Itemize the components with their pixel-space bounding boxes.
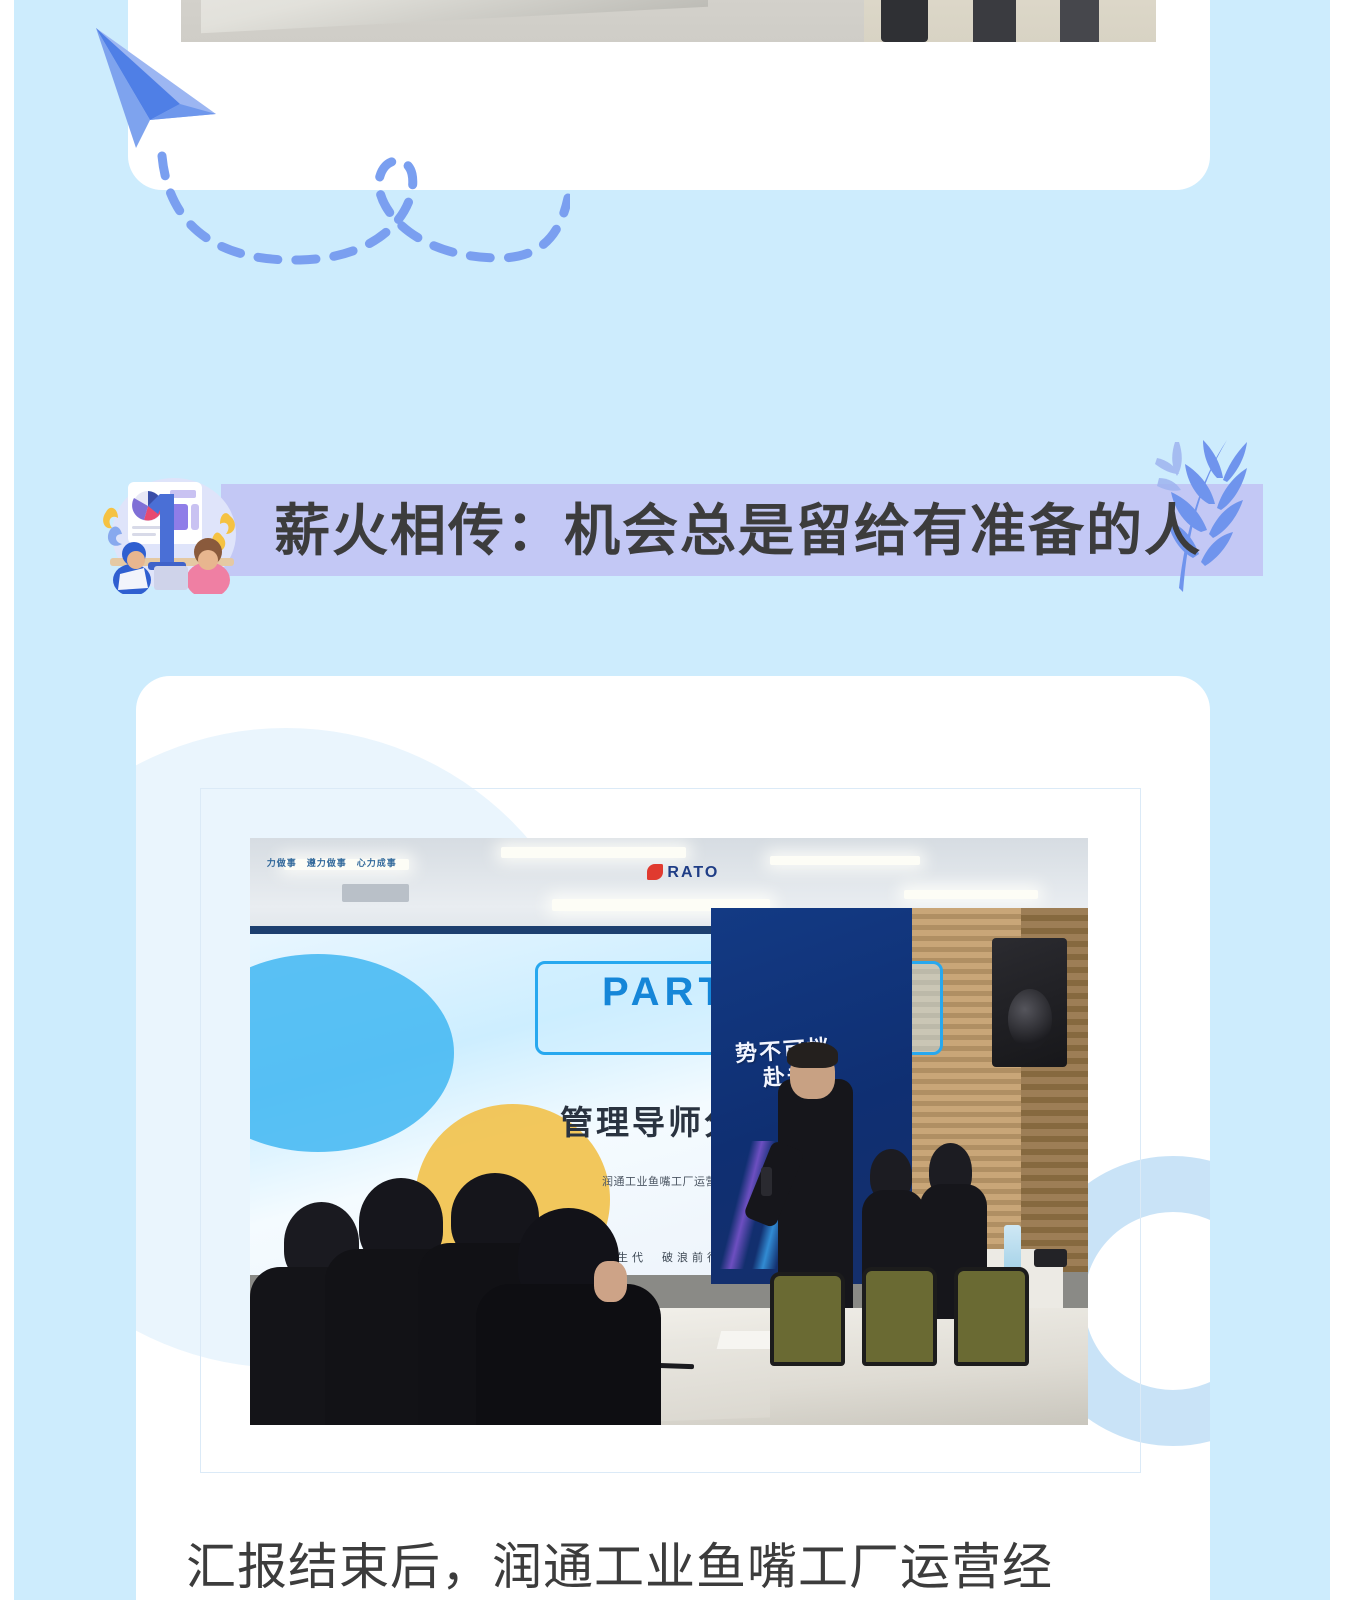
paper-plane-icon: [88, 8, 228, 158]
ceiling-light: [770, 856, 921, 865]
rato-brand-text: RATO: [667, 864, 719, 881]
photo-microphone: [761, 1167, 772, 1196]
page-right-margin: [1330, 0, 1363, 1600]
rato-brand-logo: RATO: [647, 864, 719, 882]
photo-chair: [954, 1267, 1029, 1367]
dashed-curve-icon: [150, 150, 570, 270]
ceiling-light: [904, 890, 1038, 899]
mentor-sharing-session-photo: 力做事 遵力做事 心力成事 RATO PART 03 管理导师分享 润通工业鱼嘴…: [250, 838, 1088, 1425]
section-title-row: 薪火相传：机会总是留给有准备的人: [96, 468, 1276, 598]
photo-attendee-body: [476, 1284, 660, 1425]
slide-blue-blob: [250, 954, 454, 1151]
rato-mark-icon: [647, 864, 663, 880]
teamwork-number-one-illustration: [96, 468, 251, 594]
page-left-margin: [0, 0, 14, 1600]
slide-header-tags: 力做事 遵力做事 心力成事: [267, 856, 397, 869]
top-card-photo: [181, 0, 1156, 42]
ceiling-light: [501, 847, 685, 858]
photo-loudspeaker: [992, 938, 1067, 1067]
page-root: 薪火相传：机会总是留给有准备的人: [0, 0, 1363, 1600]
photo-chair: [862, 1267, 937, 1367]
photo-presenter-head: [790, 1049, 835, 1098]
top-photo-room-right: [864, 0, 1157, 42]
photo-table-items: [1034, 1249, 1068, 1267]
main-article-card: 力做事 遵力做事 心力成事 RATO PART 03 管理导师分享 润通工业鱼嘴…: [136, 676, 1210, 1600]
ceiling-vent: [342, 884, 409, 902]
section-title-text: 薪火相传：机会总是留给有准备的人: [274, 498, 1202, 564]
photo-chair: [770, 1272, 845, 1366]
article-body-text: 汇报结束后，润通工业鱼嘴工厂运营经: [186, 1528, 1171, 1600]
photo-attendee-hand: [594, 1261, 628, 1302]
